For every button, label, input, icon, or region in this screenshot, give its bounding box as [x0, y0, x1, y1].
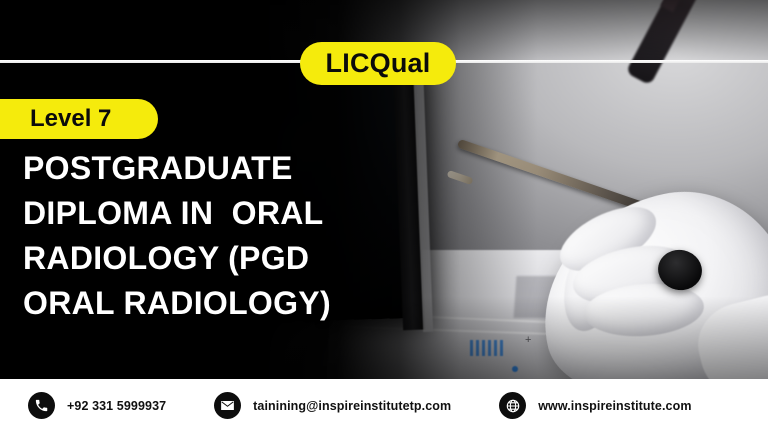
level-badge-label: Level 7 — [0, 107, 111, 131]
title-line-4: ORAL RADIOLOGY) — [23, 281, 453, 326]
phone-number: +92 331 5999937 — [67, 399, 166, 413]
level-badge: Level 7 — [0, 99, 158, 139]
contact-email[interactable]: tainining@inspireinstitutetp.com — [214, 392, 451, 419]
course-banner: + + LICQual Level 7 POSTGRADUATE DIPLOMA… — [0, 0, 768, 432]
licqual-logo[interactable]: LICQual — [300, 42, 456, 85]
contact-footer: +92 331 5999937 tainining@inspireinstitu… — [0, 379, 768, 432]
website-url: www.inspireinstitute.com — [538, 399, 691, 413]
page-title: POSTGRADUATE DIPLOMA IN ORAL RADIOLOGY (… — [23, 146, 453, 326]
email-address: tainining@inspireinstitutetp.com — [253, 399, 451, 413]
title-line-2: DIPLOMA IN ORAL — [23, 191, 453, 236]
envelope-icon — [214, 392, 241, 419]
phone-icon — [28, 392, 55, 419]
title-line-3: RADIOLOGY (PGD — [23, 236, 453, 281]
globe-icon — [499, 392, 526, 419]
contact-phone[interactable]: +92 331 5999937 — [28, 392, 166, 419]
contact-website[interactable]: www.inspireinstitute.com — [499, 392, 691, 419]
title-line-1: POSTGRADUATE — [23, 146, 453, 191]
licqual-logo-text: LICQual — [326, 50, 431, 77]
